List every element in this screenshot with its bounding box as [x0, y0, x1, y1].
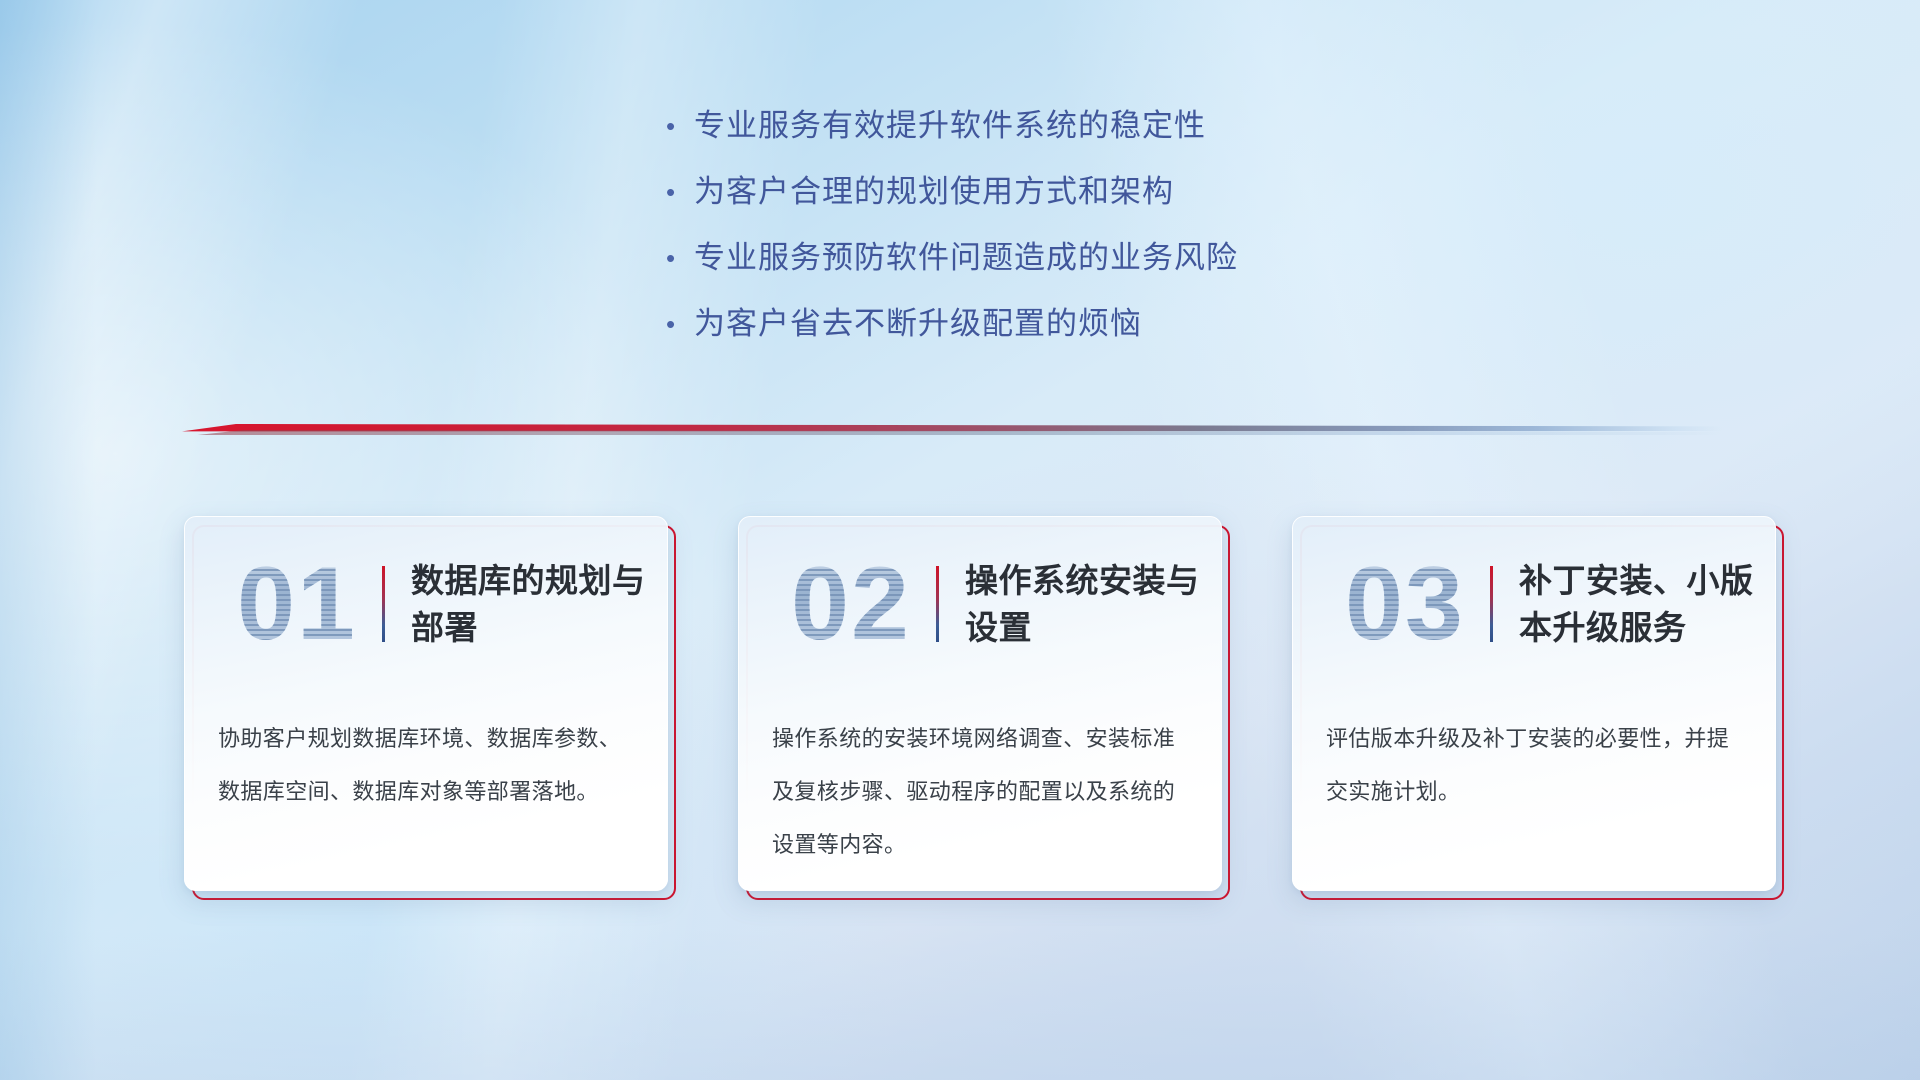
card-title: 操作系统安装与设置	[965, 557, 1222, 651]
service-card-02[interactable]: 02 操作系统安装与设置 操作系统的安装环境网络调查、安装标准及复核步骤、驱动程…	[738, 516, 1230, 900]
list-item: • 专业服务预防软件问题造成的业务风险	[660, 236, 1420, 302]
card-header: 03 补丁安装、小版本升级服务	[1292, 534, 1776, 674]
card-header: 02 操作系统安装与设置	[738, 534, 1222, 674]
card-number: 03	[1320, 544, 1490, 664]
card-description: 操作系统的安装环境网络调查、安装标准及复核步骤、驱动程序的配置以及系统的设置等内…	[772, 712, 1188, 871]
bullet-text: 为客户合理的规划使用方式和架构	[694, 170, 1174, 214]
list-item: • 为客户省去不断升级配置的烦恼	[660, 302, 1420, 368]
card-number: 02	[766, 544, 936, 664]
card-header: 01 数据库的规划与部署	[184, 534, 668, 674]
card-title-rule	[1490, 566, 1493, 642]
card-surface: 03 补丁安装、小版本升级服务 评估版本升级及补丁安装的必要性，并提交实施计划。	[1292, 516, 1776, 891]
bullet-dot-icon: •	[660, 302, 694, 346]
bullet-dot-icon: •	[660, 104, 694, 148]
card-description: 协助客户规划数据库环境、数据库参数、数据库空间、数据库对象等部署落地。	[218, 712, 634, 818]
card-title-rule	[382, 566, 385, 642]
card-description: 评估版本升级及补丁安装的必要性，并提交实施计划。	[1326, 712, 1742, 818]
section-divider	[182, 418, 1722, 438]
card-surface: 01 数据库的规划与部署 协助客户规划数据库环境、数据库参数、数据库空间、数据库…	[184, 516, 668, 891]
service-card-03[interactable]: 03 补丁安装、小版本升级服务 评估版本升级及补丁安装的必要性，并提交实施计划。	[1292, 516, 1784, 900]
card-number: 01	[212, 544, 382, 664]
bullet-text: 专业服务有效提升软件系统的稳定性	[694, 104, 1206, 148]
service-card-01[interactable]: 01 数据库的规划与部署 协助客户规划数据库环境、数据库参数、数据库空间、数据库…	[184, 516, 676, 900]
bullet-text: 专业服务预防软件问题造成的业务风险	[694, 236, 1238, 280]
benefits-bullet-list: • 专业服务有效提升软件系统的稳定性 • 为客户合理的规划使用方式和架构 • 专…	[660, 104, 1420, 368]
bullet-dot-icon: •	[660, 170, 694, 214]
service-card-group: 01 数据库的规划与部署 协助客户规划数据库环境、数据库参数、数据库空间、数据库…	[184, 516, 1784, 916]
card-title: 数据库的规划与部署	[411, 557, 668, 651]
list-item: • 专业服务有效提升软件系统的稳定性	[660, 104, 1420, 170]
card-title: 补丁安装、小版本升级服务	[1519, 557, 1776, 651]
list-item: • 为客户合理的规划使用方式和架构	[660, 170, 1420, 236]
card-title-rule	[936, 566, 939, 642]
card-surface: 02 操作系统安装与设置 操作系统的安装环境网络调查、安装标准及复核步骤、驱动程…	[738, 516, 1222, 891]
bullet-text: 为客户省去不断升级配置的烦恼	[694, 302, 1142, 346]
slide-stage: • 专业服务有效提升软件系统的稳定性 • 为客户合理的规划使用方式和架构 • 专…	[0, 0, 1920, 1080]
bullet-dot-icon: •	[660, 236, 694, 280]
